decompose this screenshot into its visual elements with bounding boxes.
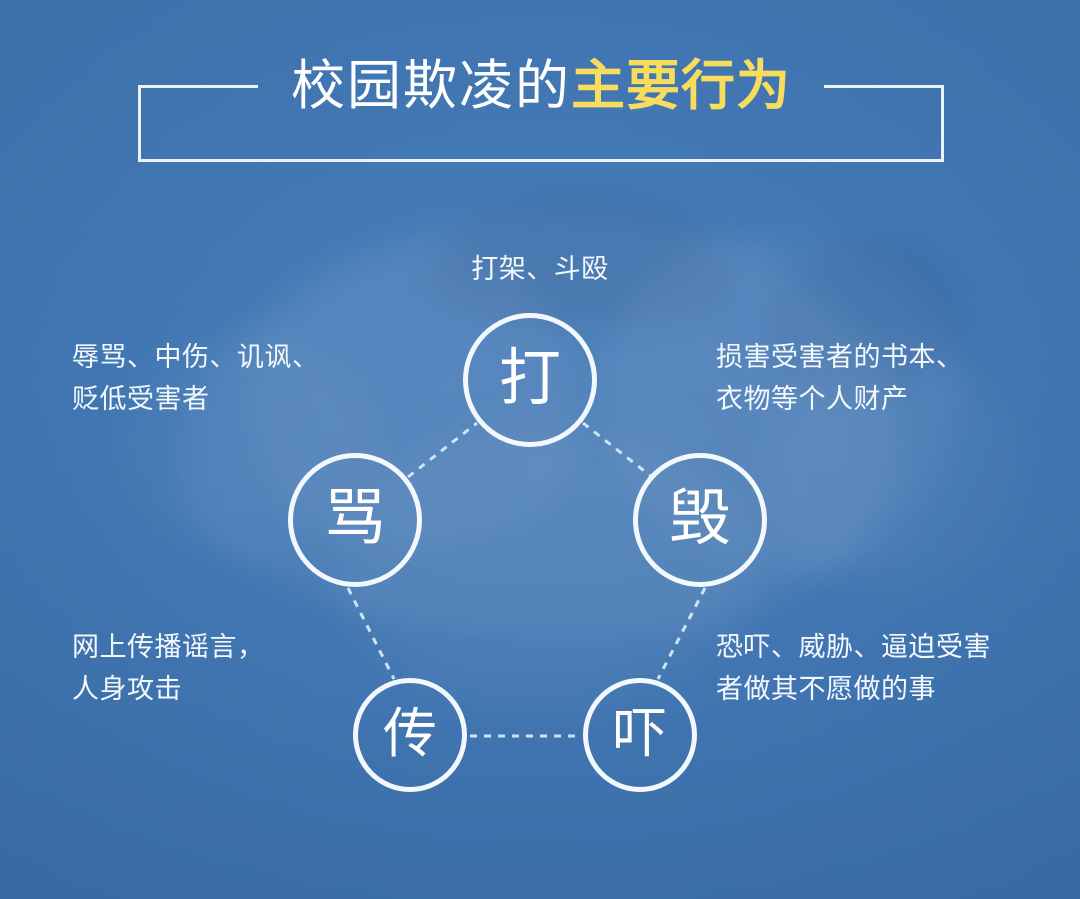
node-xia-char: 吓	[613, 707, 667, 761]
bullying-behaviors-poster: 校园欺凌的主要行为 打 骂 毁 传 吓 打架、斗殴 辱骂、中伤、讥讽、 贬低受害…	[0, 0, 1080, 899]
node-xia[interactable]: 吓	[583, 678, 697, 792]
connector-hui-xia	[658, 588, 705, 679]
node-hui[interactable]: 毁	[633, 453, 767, 587]
node-hui-char: 毁	[669, 488, 731, 550]
behaviors-diagram: 打 骂 毁 传 吓 打架、斗殴 辱骂、中伤、讥讽、 贬低受害者 损害受害者的书本…	[0, 0, 1080, 899]
node-ma-char: 骂	[324, 488, 386, 550]
caption-left-lower: 网上传播谣言， 人身攻击	[72, 626, 372, 710]
node-da[interactable]: 打	[463, 313, 597, 447]
node-chuan-char: 传	[383, 707, 437, 761]
connector-da-hui	[583, 423, 652, 477]
caption-right-upper: 损害受害者的书本、 衣物等个人财产	[716, 336, 1056, 420]
caption-right-lower: 恐吓、威胁、逼迫受害 者做其不愿做的事	[716, 626, 1056, 710]
node-ma[interactable]: 骂	[288, 453, 422, 587]
connector-ma-da	[408, 423, 477, 477]
caption-top: 打架、斗殴	[0, 248, 1080, 290]
caption-left-upper: 辱骂、中伤、讥讽、 贬低受害者	[72, 336, 392, 420]
node-da-char: 打	[499, 348, 561, 410]
connector-lines	[0, 0, 1080, 899]
